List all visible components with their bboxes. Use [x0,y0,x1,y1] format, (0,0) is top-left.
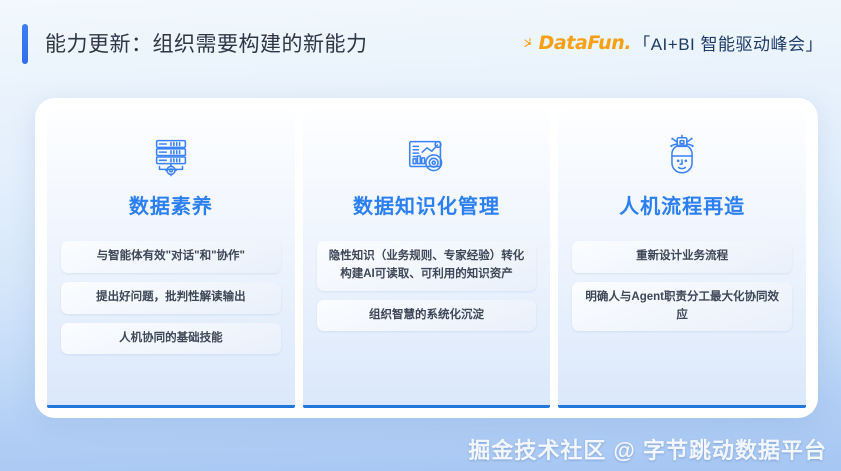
datafun-sparkle-icon [523,37,537,51]
brand-name: DataFun. [538,32,631,54]
capability-item: 明确人与Agent职责分工最大化协同效应 [572,282,792,332]
brand-lockup: DataFun. 「AI+BI 智能驱动峰会」 [523,30,823,55]
server-gear-icon [148,128,194,184]
panel-heading: 人机流程再造 [619,190,745,219]
slide-header: 能力更新：组织需要构建的新能力 DataFun. 「AI+BI 智能驱动峰会」 [0,0,841,88]
dashboard-chart-icon [404,128,450,184]
slide-root: 能力更新：组织需要构建的新能力 DataFun. 「AI+BI 智能驱动峰会」 [0,0,841,471]
title-accent-bar [22,24,28,64]
capability-item-list: 重新设计业务流程 明确人与Agent职责分工最大化协同效应 [572,241,792,331]
page-title: 能力更新：组织需要构建的新能力 [45,28,368,58]
ai-head-chip-icon [659,128,705,184]
watermark: 掘金技术社区 @ 字节跳动数据平台 [468,433,827,465]
capability-panel-data-literacy: 数据素养 与智能体有效"对话"和"协作" 提出好问题，批判性解读输出 人机协同的… [47,110,295,408]
capability-item-list: 隐性知识（业务规则、专家经验）转化构建AI可读取、可利用的知识资产 组织智慧的系… [317,241,537,331]
brand-subtitle: 「AI+BI 智能驱动峰会」 [633,30,823,55]
panel-heading: 数据素养 [129,190,213,219]
capability-item: 人机协同的基础技能 [61,323,281,355]
capability-item-list: 与智能体有效"对话"和"协作" 提出好问题，批判性解读输出 人机协同的基础技能 [61,241,281,354]
panel-heading: 数据知识化管理 [353,190,500,219]
capability-panel-process-redesign: 人机流程再造 重新设计业务流程 明确人与Agent职责分工最大化协同效应 [558,110,806,408]
capability-item: 提出好问题，批判性解读输出 [61,282,281,314]
content-card: 数据素养 与智能体有效"对话"和"协作" 提出好问题，批判性解读输出 人机协同的… [35,98,818,418]
capability-panel-knowledge-management: 数据知识化管理 隐性知识（业务规则、专家经验）转化构建AI可读取、可利用的知识资… [303,110,551,408]
capability-item: 隐性知识（业务规则、专家经验）转化构建AI可读取、可利用的知识资产 [317,241,537,291]
capability-item: 重新设计业务流程 [572,241,792,273]
capability-item: 与智能体有效"对话"和"协作" [61,241,281,273]
capability-item: 组织智慧的系统化沉淀 [317,300,537,332]
